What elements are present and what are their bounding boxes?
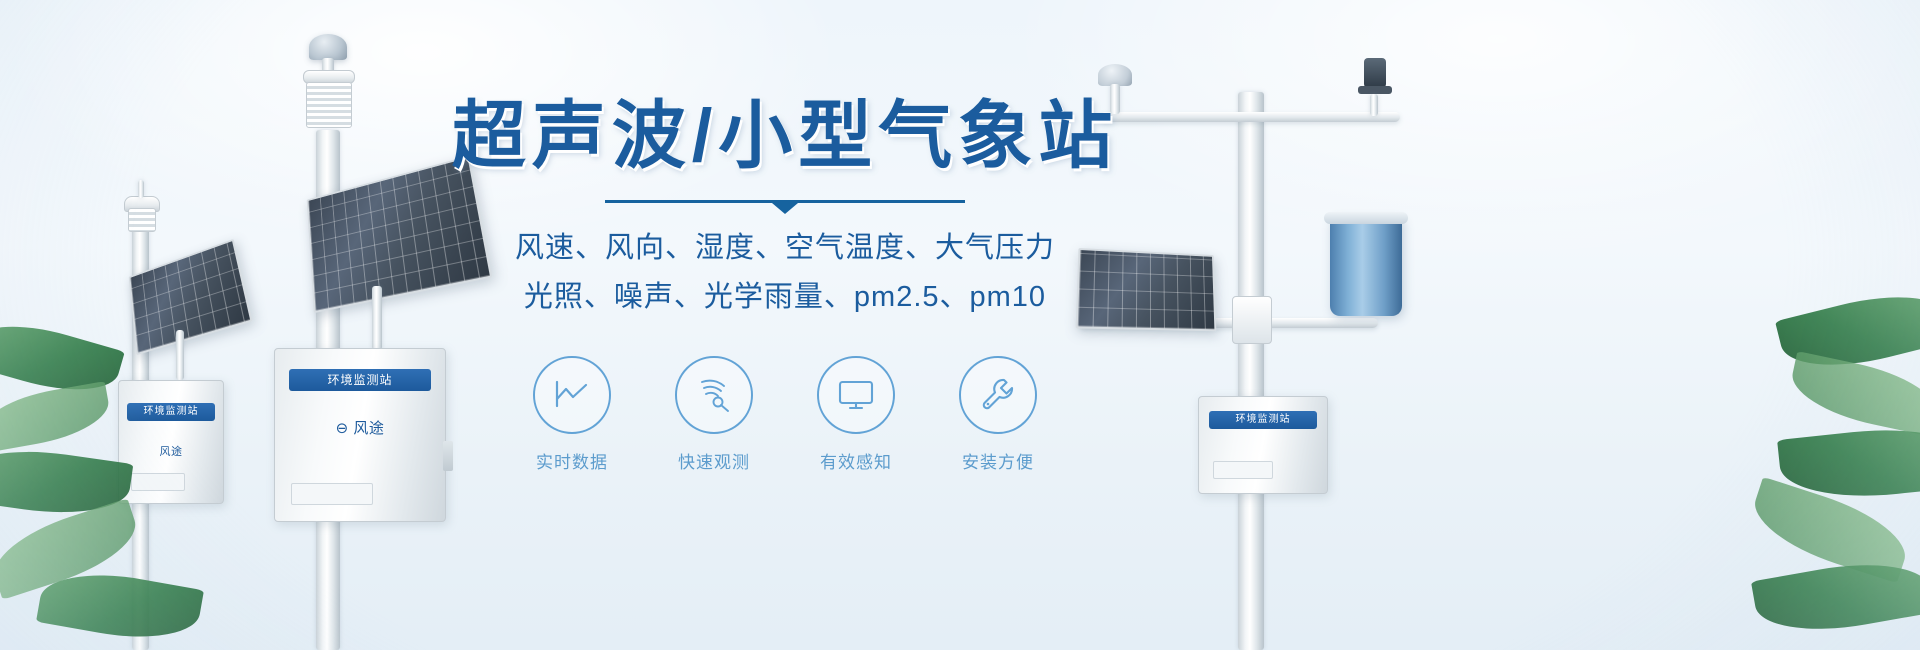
radar-signal-icon <box>675 356 753 434</box>
feature-label: 实时数据 <box>530 448 614 473</box>
title-divider <box>605 200 965 212</box>
feature-label: 有效感知 <box>814 448 898 473</box>
feature-item-effective-sensing[interactable]: 有效感知 <box>814 356 898 473</box>
feature-item-easy-install[interactable]: 安装方便 <box>956 356 1040 473</box>
monitor-icon <box>817 356 895 434</box>
feature-item-realtime-data[interactable]: 实时数据 <box>530 356 614 473</box>
feature-label: 安装方便 <box>956 448 1040 473</box>
banner-subtitle-line-1: 风速、风向、湿度、空气温度、大气压力 <box>440 226 1130 271</box>
feature-item-fast-observation[interactable]: 快速观测 <box>672 356 756 473</box>
banner-content: 超声波/小型气象站 风速、风向、湿度、空气温度、大气压力 光照、噪声、光学雨量、… <box>440 96 1130 473</box>
banner-title: 超声波/小型气象站 <box>440 96 1130 176</box>
wrench-icon <box>959 356 1037 434</box>
product-banner: 环境监测站 风途 环境监测站 ⊖ 风途 <box>0 0 1920 650</box>
feature-list: 实时数据 快速观测 <box>440 356 1130 473</box>
line-chart-icon <box>533 356 611 434</box>
banner-subtitle-line-2: 光照、噪声、光学雨量、pm2.5、pm10 <box>440 275 1130 320</box>
feature-label: 快速观测 <box>672 448 756 473</box>
chevron-down-icon <box>772 203 798 214</box>
